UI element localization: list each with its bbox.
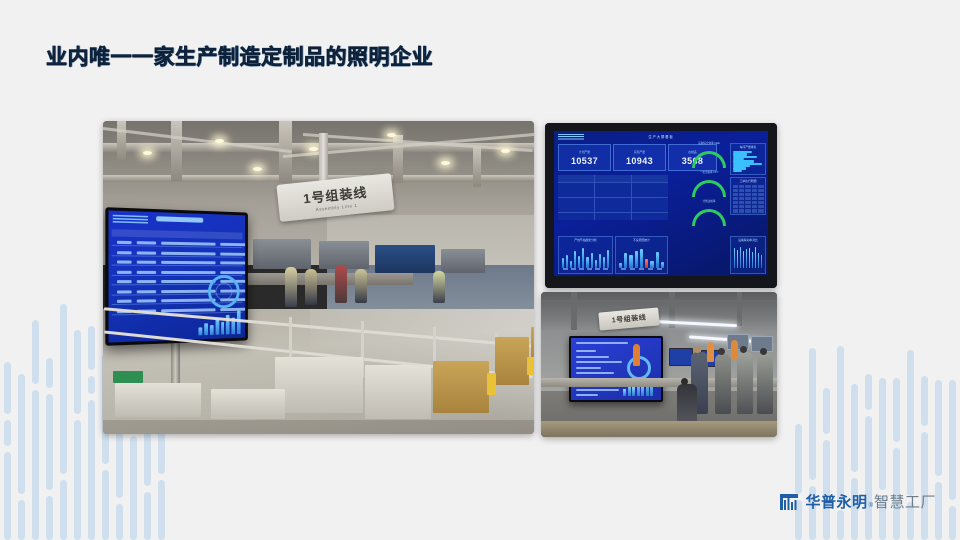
decorative-bar-column <box>949 380 956 540</box>
matrix-cell <box>632 190 650 197</box>
decorative-bar-segment <box>88 376 95 394</box>
worker-figure <box>335 265 347 303</box>
table-cell <box>758 185 763 188</box>
decorative-bar-segment <box>32 320 39 384</box>
matrix-cell <box>650 213 668 220</box>
decorative-bar-column <box>60 304 67 540</box>
chart-x-axis <box>619 268 664 272</box>
matrix-cell <box>595 205 613 212</box>
matrix-cell <box>576 190 594 197</box>
ceiling-column <box>117 121 126 161</box>
board-table-cell <box>137 241 156 244</box>
board-text-line <box>576 389 619 391</box>
decorative-bar-segment <box>921 432 928 540</box>
board-text-line <box>576 361 622 363</box>
table-cell <box>733 189 738 192</box>
worker-figure <box>305 269 317 305</box>
chart-bar <box>749 248 750 268</box>
worker-figure <box>285 267 297 307</box>
decorative-bar-segment <box>935 482 942 540</box>
matrix-cell <box>613 190 631 197</box>
decorative-bar-segment <box>823 440 830 540</box>
matrix-cell <box>632 183 650 190</box>
material-stack <box>211 389 285 419</box>
board-bar-chart <box>198 309 240 336</box>
table-cell <box>733 197 738 200</box>
decorative-bar-column <box>795 424 802 540</box>
ceiling-lamp <box>215 139 224 143</box>
chart-bar <box>635 251 638 268</box>
wooden-panel <box>433 361 489 413</box>
board-bar <box>221 322 225 335</box>
worker-figure <box>715 354 731 414</box>
board-table-cell <box>220 243 245 246</box>
decorative-bar-segment <box>949 506 956 540</box>
table-row <box>733 205 764 208</box>
board-bar <box>623 389 626 396</box>
chart-bar <box>562 258 564 268</box>
matrix-cell <box>595 183 613 190</box>
matrix-cell <box>595 198 613 205</box>
panel-title: 产线节拍趋势分析 <box>559 238 612 242</box>
board-table-cell <box>137 270 156 273</box>
table-row <box>733 201 764 204</box>
chart-bar <box>761 255 762 268</box>
workstation-rack <box>253 239 311 269</box>
ceiling-column <box>473 147 481 187</box>
board-gauge-ring <box>208 275 240 308</box>
dashboard-screen: 生产大屏看板 计划产量 10537 实际产量 10943 在制品 3568 设备… <box>554 131 768 276</box>
board-table-header <box>112 229 243 239</box>
kpi-card: 计划产量 10537 <box>558 144 611 171</box>
chart-bar <box>743 251 744 268</box>
workstation-rack <box>441 249 485 273</box>
kpi-value: 10943 <box>626 156 653 166</box>
decorative-bar-column <box>823 388 830 540</box>
board-table-cell <box>161 270 215 273</box>
decorative-bar-segment <box>74 420 81 540</box>
board-table-cell <box>137 261 156 264</box>
foreground-counter <box>541 421 777 437</box>
table-row <box>733 209 764 212</box>
logo-registered-mark: ® <box>869 503 873 509</box>
chart-bar <box>599 254 601 268</box>
table-cell <box>758 209 763 212</box>
horizontal-bar <box>733 170 742 172</box>
chart-bar <box>586 257 588 268</box>
board-table-cell <box>117 280 131 283</box>
table-cell <box>758 193 763 196</box>
board-table-cell <box>161 261 215 264</box>
decorative-bar-segment <box>921 376 928 426</box>
dashboard-title: 生产大屏看板 <box>648 134 673 139</box>
matrix-cell <box>632 198 650 205</box>
matrix-cell <box>558 205 576 212</box>
table-cell <box>745 201 750 204</box>
huapu-bracket-icon <box>778 492 800 512</box>
chart-bar <box>734 248 735 268</box>
table-cell <box>745 189 750 192</box>
decorative-bar-column <box>46 358 53 540</box>
table-cell <box>752 201 757 204</box>
board-text-line <box>576 394 598 396</box>
logo-brand-text: 华普永明 <box>806 491 868 512</box>
table-cell <box>752 197 757 200</box>
table-cell <box>739 201 744 204</box>
chart-bar <box>603 257 605 269</box>
production-board-display <box>569 336 663 402</box>
chart-bar <box>574 251 576 268</box>
decorative-bar-segment <box>837 346 844 504</box>
kpi-value: 10537 <box>571 156 598 166</box>
table-cell <box>739 205 744 208</box>
work-order-table <box>733 185 764 213</box>
workstation-rack <box>375 245 435 273</box>
matrix-cell <box>558 190 576 197</box>
worker-head <box>760 348 767 355</box>
defect-stats-chart <box>619 245 664 268</box>
board-logo-icon <box>113 215 148 225</box>
worker-head <box>694 346 701 353</box>
table-row <box>733 193 764 196</box>
gauge-label: 计划达成率 <box>703 199 716 203</box>
board-bar <box>237 311 241 334</box>
board-text-line <box>576 372 614 374</box>
matrix-cell <box>650 190 668 197</box>
matrix-cell <box>558 213 576 220</box>
green-bin <box>113 371 143 383</box>
ceiling-lamp <box>501 149 510 153</box>
board-table-cell <box>137 280 156 283</box>
decorative-bar-segment <box>865 416 872 540</box>
gauge-label: 一次合格率 FPY <box>700 170 719 174</box>
board-table-cell <box>220 252 245 255</box>
table-cell <box>758 201 763 204</box>
matrix-cell <box>558 198 576 205</box>
chart-bar <box>752 252 753 268</box>
logo-suffix-text: 智慧工厂 <box>874 491 936 512</box>
photo-factory-assembly-line-wide: 1号组装线 Assembly Line 1 <box>103 121 534 434</box>
ceiling-column <box>571 292 577 330</box>
kpi-card: 实际产量 10943 <box>613 144 666 171</box>
matrix-cell <box>595 190 613 197</box>
board-table-row <box>112 258 243 266</box>
decorative-bar-segment <box>893 378 900 442</box>
floor-shadow <box>103 420 534 434</box>
chart-bar <box>640 249 643 268</box>
assembly-line-sign-label: 1号组装线 <box>302 182 368 208</box>
board-title-bar <box>576 342 628 344</box>
gauge-oee: 设备综合效率 OEE <box>692 145 726 168</box>
table-row <box>733 197 764 200</box>
matrix-cell <box>613 183 631 190</box>
worker-arm-raised <box>707 342 714 362</box>
chart-x-axis <box>562 268 609 272</box>
board-table-cell <box>161 242 215 246</box>
board-text-line <box>576 356 609 358</box>
station-monitor <box>669 348 693 366</box>
decorative-bar-segment <box>88 326 95 370</box>
decorative-bar-segment <box>18 374 25 494</box>
matrix-cell <box>632 213 650 220</box>
matrix-cell <box>576 183 594 190</box>
ceiling-column <box>171 121 182 181</box>
chart-bar <box>578 256 580 268</box>
assembly-line-sign-label: 1号组装线 <box>611 313 646 326</box>
matrix-cell <box>650 198 668 205</box>
board-bar <box>215 319 219 335</box>
gauge-plan-rate: 计划达成率 <box>692 203 726 226</box>
panel-ranking: 车间产量排名 <box>730 143 766 175</box>
matrix-cell <box>576 198 594 205</box>
decorative-bar-segment <box>116 504 123 540</box>
decorative-bar-segment <box>60 304 67 474</box>
matrix-cell <box>595 213 613 220</box>
decorative-bar-segment <box>60 480 67 540</box>
matrix-cell <box>595 175 613 182</box>
dashboard-brand-icon <box>558 134 584 140</box>
worker-head <box>718 348 725 355</box>
board-table-row <box>112 248 243 257</box>
worker-arm-raised <box>731 340 738 360</box>
decorative-bar-segment <box>158 480 165 540</box>
decorative-bar-segment <box>4 420 11 446</box>
chart-bar <box>582 248 584 268</box>
decorative-bar-column <box>74 330 81 540</box>
table-cell <box>739 197 744 200</box>
decorative-bar-segment <box>102 470 109 540</box>
table-cell <box>733 185 738 188</box>
ceiling-lamp <box>441 161 450 165</box>
chart-bar <box>591 253 593 268</box>
board-table-row <box>112 239 243 248</box>
panel-utilization: 设备稼动率对比 <box>730 236 766 274</box>
decorative-bar-segment <box>46 496 53 540</box>
decorative-bar-segment <box>935 380 942 476</box>
worker-figure <box>737 352 753 414</box>
board-table-cell <box>117 290 131 293</box>
page-title: 业内唯一一家生产制造定制品的照明企业 <box>46 41 433 71</box>
matrix-cell <box>576 175 594 182</box>
utilization-bar-chart <box>734 245 762 268</box>
horizontal-bar-chart <box>733 151 763 172</box>
matrix-cell <box>613 213 631 220</box>
decorative-bar-segment <box>879 378 886 490</box>
table-cell <box>752 185 757 188</box>
material-stack <box>115 383 201 417</box>
board-table-cell <box>137 290 156 293</box>
table-row <box>733 189 764 192</box>
decorative-bar-segment <box>949 380 956 500</box>
worker-figure <box>433 271 445 303</box>
table-cell <box>745 209 750 212</box>
chart-bar <box>737 250 738 268</box>
ceiling-lamp <box>253 167 262 171</box>
board-bar <box>632 387 635 396</box>
display-bezel: 生产大屏看板 计划产量 10537 实际产量 10943 在制品 3568 设备… <box>545 123 777 288</box>
board-bar <box>204 324 208 336</box>
decorative-bar-segment <box>46 358 53 388</box>
panel-title: 工单执行明细 <box>731 179 765 183</box>
table-cell <box>758 197 763 200</box>
decorative-bar-segment <box>4 362 11 414</box>
sign-support-pole <box>319 133 328 183</box>
table-cell <box>752 189 757 192</box>
brand-logo: 华普永明 ® 智慧工厂 <box>778 491 936 512</box>
board-table-cell <box>117 251 131 254</box>
kpi-label: 计划产量 <box>579 150 590 154</box>
board-text-line <box>576 367 601 369</box>
worker-figure <box>355 269 367 303</box>
matrix-cell <box>632 205 650 212</box>
production-board-display <box>105 207 248 346</box>
chart-bar <box>607 250 609 268</box>
gauge-label: 设备综合效率 OEE <box>698 141 720 145</box>
worker-figure <box>757 354 773 414</box>
board-text-line <box>576 350 596 352</box>
table-cell <box>739 209 744 212</box>
chart-bar <box>656 252 659 268</box>
kpi-label: 实际产量 <box>634 150 645 154</box>
panel-title: 不良原因统计 <box>616 238 667 242</box>
board-table-cell <box>137 251 156 254</box>
decorative-bar-segment <box>46 394 53 490</box>
chart-bar <box>629 255 632 268</box>
panel-title: 车间产量排名 <box>731 145 765 149</box>
table-cell <box>733 205 738 208</box>
matrix-cell <box>650 205 668 212</box>
decorative-bar-column <box>4 362 11 540</box>
gauge-fpy: 一次合格率 FPY <box>692 174 726 197</box>
table-cell <box>739 189 744 192</box>
table-cell <box>745 197 750 200</box>
chart-bar <box>740 247 741 268</box>
decorative-bar-column <box>865 374 872 540</box>
ceiling-lamp <box>143 151 152 155</box>
decorative-bar-segment <box>865 374 872 410</box>
production-matrix-table <box>558 175 668 220</box>
matrix-cell <box>613 175 631 182</box>
decorative-bar-column <box>32 320 39 540</box>
matrix-cell <box>558 175 576 182</box>
panel-takt-trend: 产线节拍趋势分析 <box>558 236 613 274</box>
decorative-bar-segment <box>144 492 151 540</box>
matrix-cell <box>576 205 594 212</box>
ceiling-lamp <box>387 133 396 137</box>
decorative-bar-column <box>879 378 886 540</box>
board-table-cell <box>117 300 131 303</box>
table-cell <box>745 185 750 188</box>
board-table-cell <box>220 271 245 274</box>
decorative-bar-segment <box>88 400 95 540</box>
panel-title: 设备稼动率对比 <box>731 238 765 242</box>
table-cell <box>745 193 750 196</box>
table-cell <box>733 201 738 204</box>
table-cell <box>739 185 744 188</box>
decorative-bar-segment <box>32 390 39 540</box>
ceiling-lamp <box>309 147 318 151</box>
table-row <box>733 185 764 188</box>
decorative-bar-segment <box>18 500 25 540</box>
table-cell <box>758 189 763 192</box>
board-bar <box>628 385 631 396</box>
worker-head <box>740 346 747 353</box>
board-bar <box>210 325 214 335</box>
board-table-cell <box>117 241 131 244</box>
matrix-cell <box>558 183 576 190</box>
decorative-bar-column <box>921 376 928 540</box>
chart-bar <box>650 261 653 268</box>
chart-bar <box>645 259 648 268</box>
worker-head <box>681 378 688 385</box>
chart-bar <box>570 261 572 268</box>
floor-partition <box>275 357 363 413</box>
table-cell <box>752 209 757 212</box>
matrix-cell <box>650 175 668 182</box>
panel-work-orders: 工单执行明细 <box>730 177 766 215</box>
photo-production-dashboard-screen: 生产大屏看板 计划产量 10537 实际产量 10943 在制品 3568 设备… <box>545 123 777 288</box>
board-table-cell <box>117 270 131 273</box>
matrix-cell <box>632 175 650 182</box>
ceiling-column <box>737 292 742 326</box>
decorative-bar-segment <box>795 424 802 494</box>
matrix-cell <box>613 198 631 205</box>
table-cell <box>733 209 738 212</box>
decorative-bar-column <box>935 380 942 540</box>
chart-bar <box>566 255 568 268</box>
table-cell <box>739 193 744 196</box>
decorative-bar-segment <box>851 384 858 472</box>
board-table-cell <box>137 299 156 302</box>
panel-defect-stats: 不良原因统计 <box>615 236 668 274</box>
board-bar <box>198 328 202 336</box>
decorative-bar-column <box>893 378 900 540</box>
chart-bar <box>758 253 759 268</box>
matrix-cell <box>613 205 631 212</box>
matrix-cell <box>576 213 594 220</box>
photo-workers-assembly-line: 1号组装线 <box>541 292 777 437</box>
decorative-bar-segment <box>130 436 137 540</box>
decorative-bar-segment <box>907 350 914 496</box>
decorative-bar-segment <box>4 452 11 540</box>
worker-arm-raised <box>633 344 640 366</box>
table-cell <box>733 193 738 196</box>
chart-bar <box>595 260 597 268</box>
safety-marking <box>487 373 496 395</box>
decorative-bar-column <box>88 326 95 540</box>
board-table-cell <box>161 299 215 303</box>
chart-bar <box>755 247 756 268</box>
chart-bar <box>746 249 747 268</box>
board-table-cell <box>220 261 245 264</box>
decorative-bar-segment <box>823 388 830 434</box>
wooden-panel <box>495 337 529 385</box>
floor-partition <box>365 365 431 419</box>
board-table-cell <box>161 280 215 283</box>
takt-trend-chart <box>562 245 609 268</box>
board-table-cell <box>161 251 215 255</box>
safety-marking <box>527 357 534 375</box>
decorative-bar-column <box>851 384 858 540</box>
board-title-bar <box>156 216 203 223</box>
chart-bar <box>624 253 627 268</box>
matrix-cell <box>650 183 668 190</box>
table-cell <box>758 205 763 208</box>
table-cell <box>745 205 750 208</box>
table-cell <box>752 205 757 208</box>
decorative-bar-column <box>18 374 25 540</box>
table-cell <box>752 193 757 196</box>
